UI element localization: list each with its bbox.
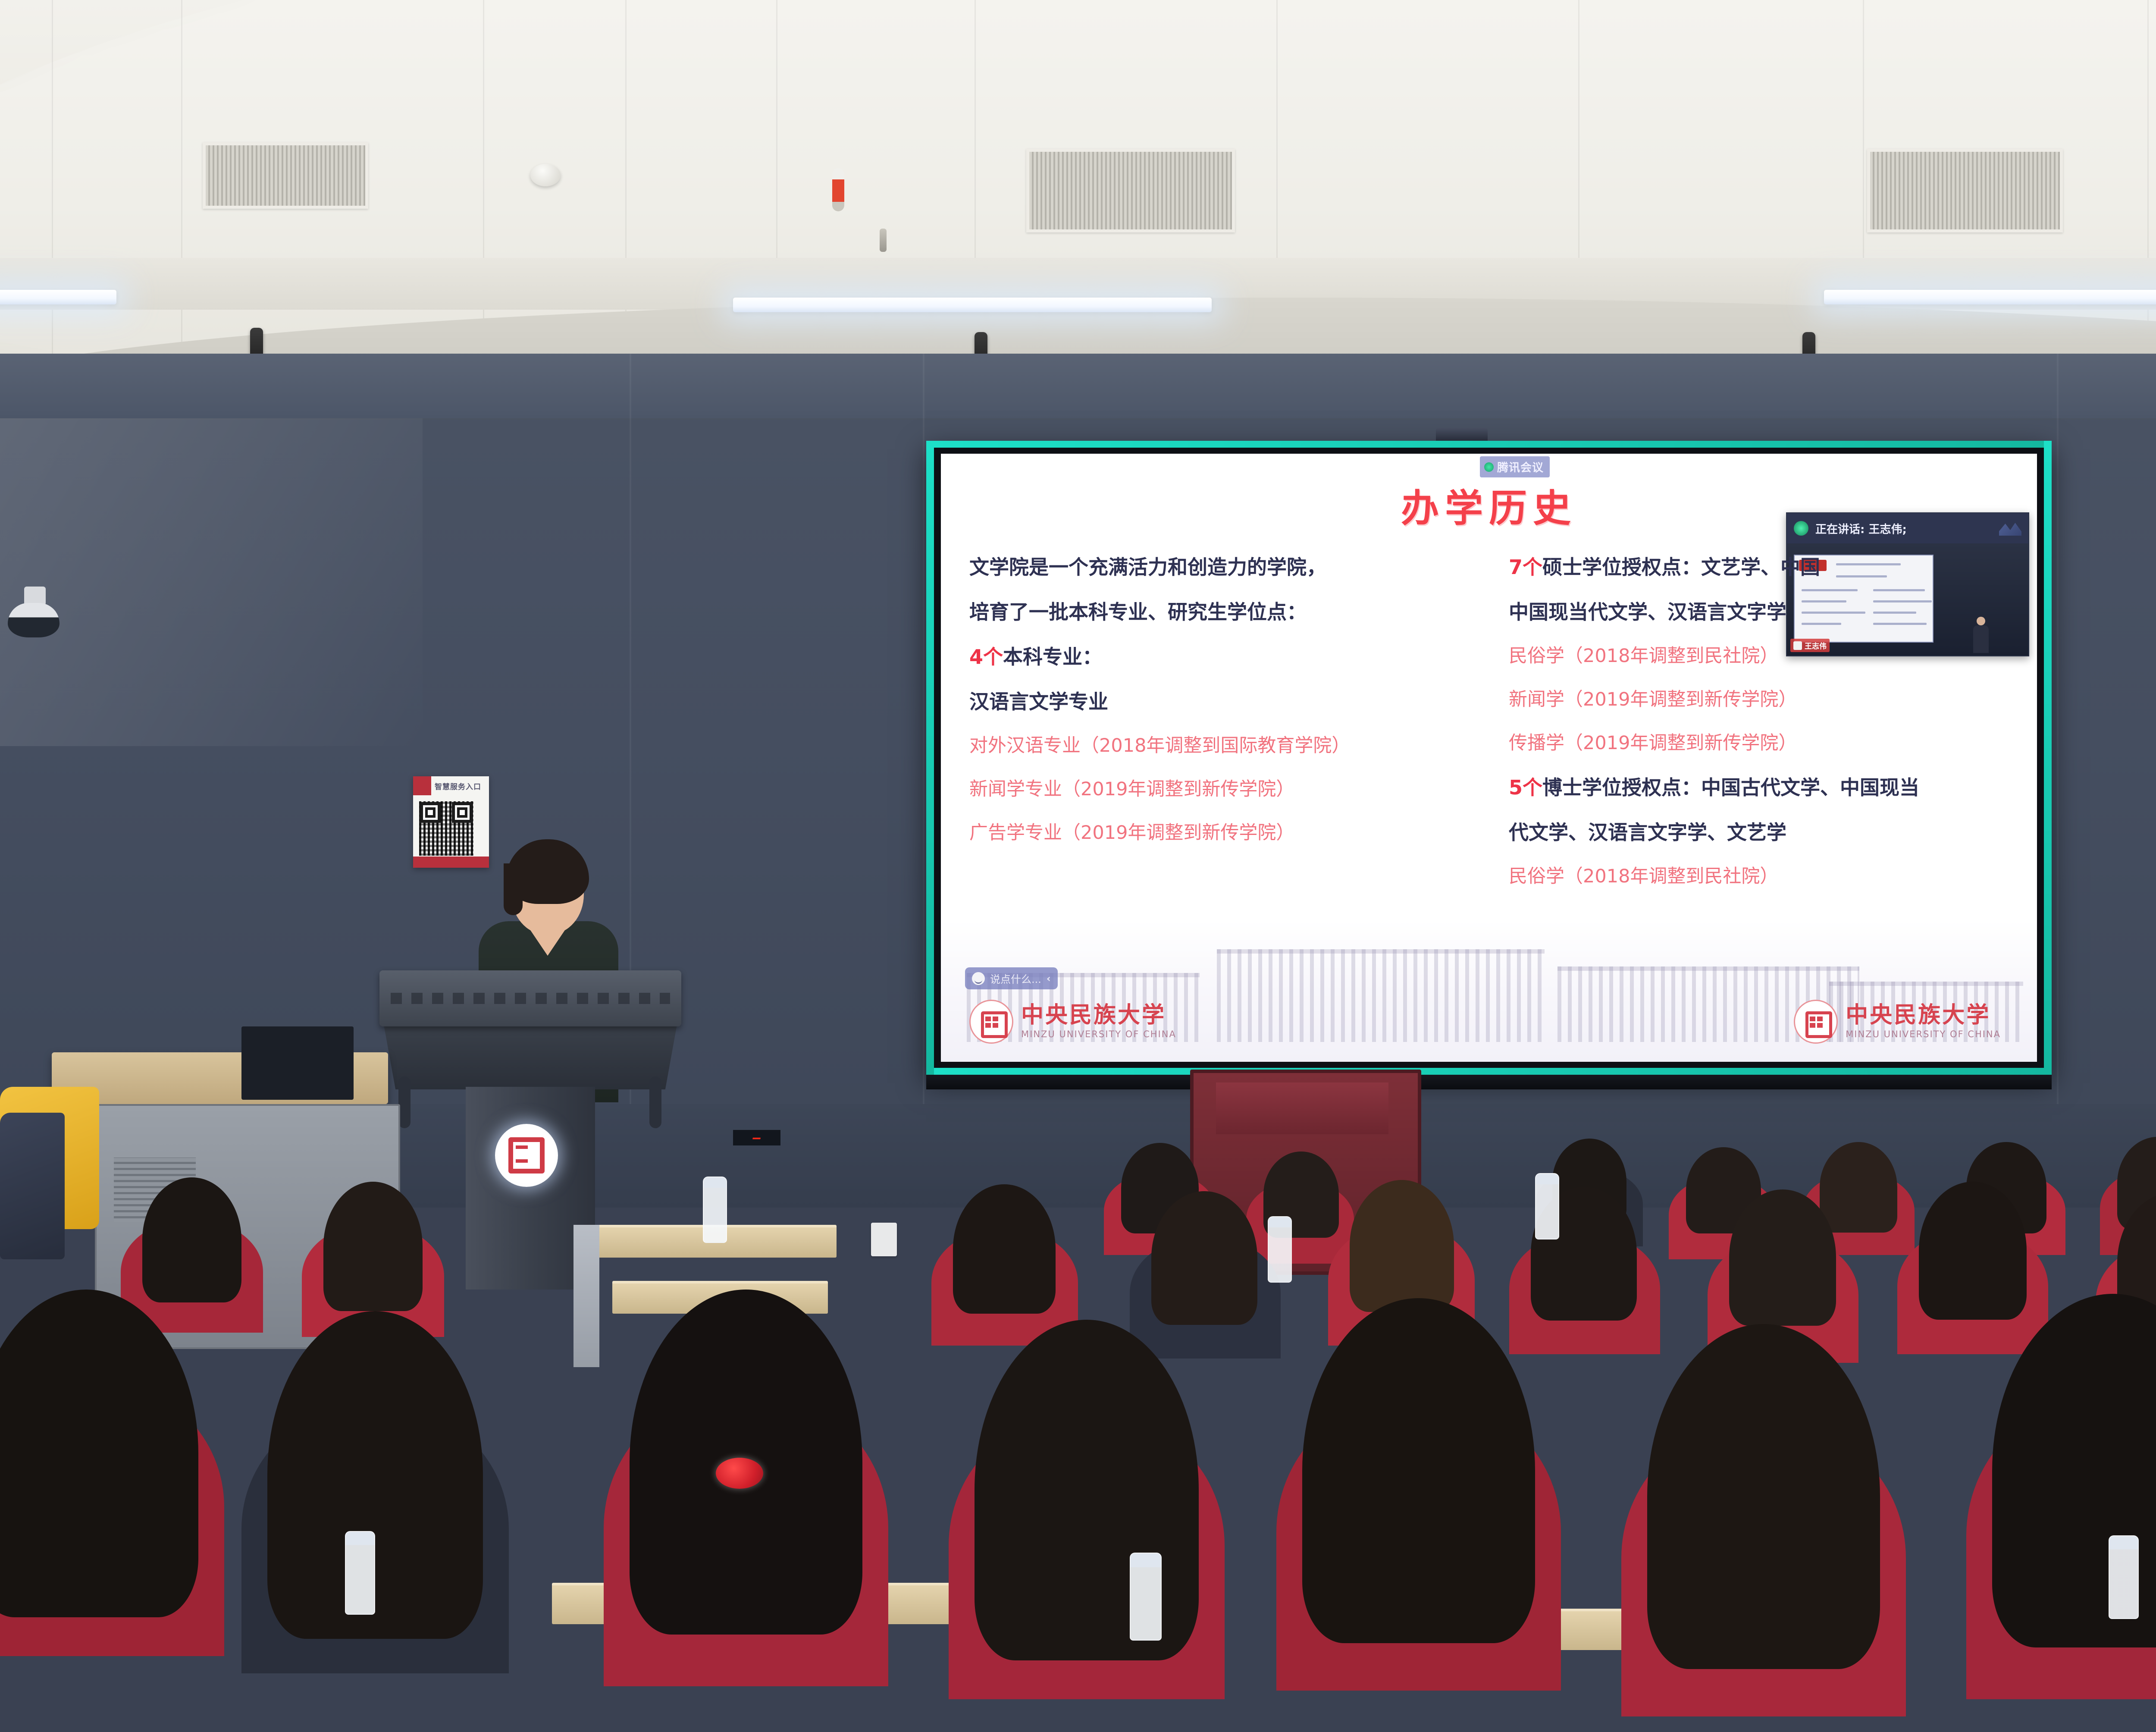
ceiling-light [733,298,1212,312]
ceiling-light [1824,290,2156,304]
slide-line: 培育了一批本科专业、研究生学位点： [969,602,1478,622]
ceiling-light [0,290,116,304]
sprinkler-head-icon [880,229,887,252]
emoji-icon[interactable] [972,972,985,985]
hair-scrunchie [716,1458,763,1489]
meeting-chat-input[interactable]: 说点什么... ‹ [965,967,1058,989]
projection-screen: 腾讯会议 办学历史 正在讲话: 王志伟; [926,441,2052,1075]
slide-line: 文学院是一个充满活力和创造力的学院， [969,557,1478,577]
slide-right-column: 7个硕士学位授权点：文艺学、中国 中国现当代文学、汉语言文字学 民俗学（2018… [1498,557,2037,911]
university-logo-left: 中央民族大学 MINZU UNIVERSITY OF CHINA [969,1000,1176,1044]
university-logo-right: 中央民族大学 MINZU UNIVERSITY OF CHINA [1794,1000,2001,1044]
slide-line: 汉语言文学专业 [969,692,1478,712]
chevron-left-icon[interactable]: ‹ [1047,973,1051,985]
water-bottle [2109,1535,2139,1619]
slide-line: 代文学、汉语言文字学、文艺学 [1509,822,2017,842]
projector-mount [1436,428,1488,442]
student-figure [1729,1189,1836,1326]
student-figure [1919,1182,2027,1320]
water-bottle [345,1531,375,1615]
slide-line: 5个博士学位授权点：中国古代文学、中国现当 [1509,778,2017,797]
smoke-detector-icon [530,164,561,186]
student-figure [1302,1298,1535,1643]
pip-active-speaker-label: 正在讲话: 王志伟; [1815,521,1907,537]
student-figure [953,1184,1056,1314]
slide-line: 民俗学（2018年调整到民社院） [1509,647,2017,665]
university-name-cn: 中央民族大学 [1846,1004,2001,1026]
slide-line: 广告学专业（2019年调整到新传学院） [969,824,1478,842]
student-figure [267,1311,483,1639]
student-figure [1820,1142,1897,1233]
student-figure [1647,1324,1880,1669]
microphone-icon [1484,462,1494,472]
water-bottle [1130,1553,1162,1641]
tencent-meeting-label: 腾讯会议 [1497,459,1544,475]
slide-line: 4个本科专业： [969,647,1478,667]
student-figure [142,1177,241,1302]
ptz-camera-icon [4,587,65,638]
student-figure [1350,1180,1454,1312]
poster-title: 智慧服务入口 [435,781,481,791]
ceiling [0,0,2156,388]
university-seal-icon [969,1000,1013,1044]
pip-microphone-icon [1794,521,1808,536]
poster-header: 智慧服务入口 [413,776,489,795]
tencent-meeting-badge: 腾讯会议 [1480,456,1550,477]
qr-code-icon[interactable] [419,801,473,856]
university-name-cn: 中央民族大学 [1021,1004,1176,1026]
chat-placeholder-label: 说点什么... [990,971,1041,986]
slide-line: 新闻学专业（2019年调整到新传学院） [969,780,1478,799]
lecture-hall-photo: 智慧服务入口 腾讯会议 办学历史 [0,0,2156,1732]
screen-bottom-bezel [926,1075,2052,1089]
water-bottle [1535,1173,1559,1239]
presentation-slide: 腾讯会议 办学历史 正在讲话: 王志伟; [941,454,2037,1062]
student-figure [1151,1191,1257,1325]
slide-body: 文学院是一个充满活力和创造力的学院， 培育了一批本科专业、研究生学位点： 4个本… [941,557,2037,911]
slide-line: 对外汉语专业（2018年调整到国际教育学院） [969,737,1478,755]
university-name-en: MINZU UNIVERSITY OF CHINA [1846,1029,2001,1039]
student-figure [0,1290,198,1617]
slide-line: 新闻学（2019年调整到新传学院） [1509,690,2017,709]
pip-toolbar: 正在讲话: 王志伟; [1787,513,2028,543]
desk-monitor [241,1026,354,1100]
presenter-hair [506,839,589,904]
student-figure [975,1320,1199,1660]
slide-line: 传播学（2019年调整到新传学院） [1509,734,2017,753]
ceiling-vent [1867,149,2063,232]
water-bottle [703,1177,727,1243]
water-bottle [1268,1216,1292,1283]
slide-line: 7个硕士学位授权点：文艺学、中国 [1509,557,2017,577]
slide-line: 中国现当代文学、汉语言文字学 [1509,602,2017,622]
sprinkler-head-icon [832,168,844,211]
tencent-logo-icon [1999,521,2021,536]
student-figure [323,1182,423,1311]
audience-area [0,1095,2156,1732]
slide-left-column: 文学院是一个充满活力和创造力的学院， 培育了一批本科专业、研究生学位点： 4个本… [941,557,1498,911]
ceiling-vent [203,142,368,209]
slide-line: 民俗学（2018年调整到民社院） [1509,867,2017,886]
desk-side-panel [573,1225,599,1367]
university-seal-icon [1794,1000,1838,1044]
ceiling-vent [1026,149,1235,232]
university-name-en: MINZU UNIVERSITY OF CHINA [1021,1029,1176,1039]
